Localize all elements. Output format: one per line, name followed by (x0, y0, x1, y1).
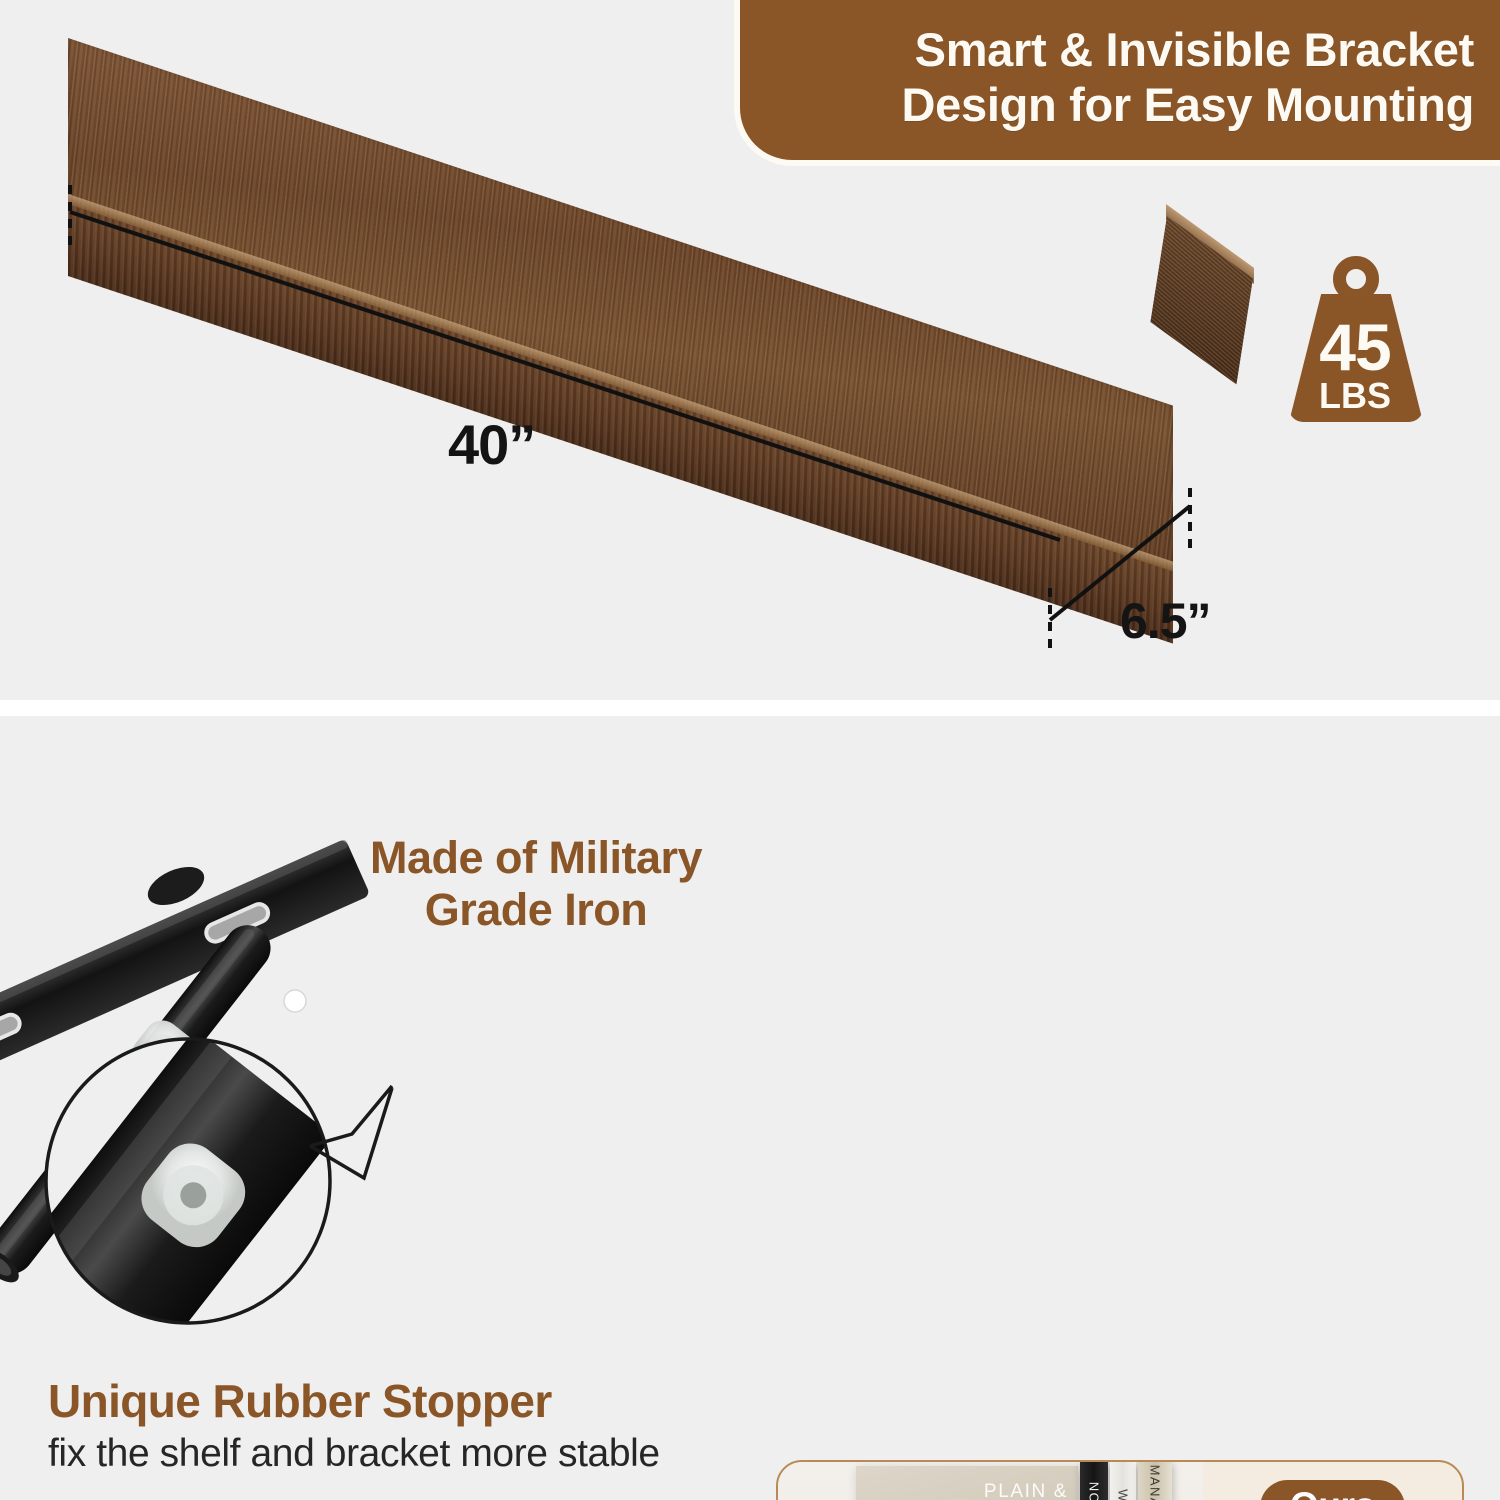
iron-title-line2: Grade Iron (425, 884, 648, 935)
ours-spine-2: WALLPAPER CITY GUIDE (1110, 1462, 1136, 1500)
ours-book-title-line1: PLAIN & (984, 1481, 1068, 1500)
weight-unit: LBS (1285, 378, 1425, 414)
depth-dimension-label: 6.5” (1120, 592, 1211, 650)
weight-value: 45 (1285, 314, 1425, 380)
ours-spine-3-text: MANAGEMENT PLAIN & SIMPLE (1148, 1465, 1163, 1500)
ours-spine-2-text: WALLPAPER CITY GUIDE (1116, 1489, 1131, 1500)
ours-spine-1-text: NO REST FOR THE WEARY (1087, 1482, 1102, 1500)
header-banner: Smart & Invisible Bracket Design for Eas… (740, 0, 1500, 160)
rubber-stopper-subtitle: fix the shelf and bracket more stable (48, 1432, 660, 1476)
ours-book-title: PLAIN & SIMPLE (984, 1480, 1068, 1500)
ours-scene: PLAIN & SIMPLE KIM BRENNEMAN NO REST FOR… (778, 1462, 1203, 1500)
weight-capacity-badge: 45 LBS (1285, 256, 1425, 426)
iron-callout-dot (284, 990, 306, 1012)
ours-text-block: Ours DEEPER & THICKER Create more storag… (1203, 1462, 1462, 1500)
bracket-svg (0, 726, 680, 1406)
length-dimension-label: 40” (448, 412, 535, 477)
product-dimensions-section: 40” 6.5” 45 LBS Smart & Invisible Bracke… (0, 0, 1500, 700)
rubber-stopper-title: Unique Rubber Stopper (48, 1374, 552, 1428)
ours-badge: Ours (1260, 1480, 1405, 1500)
shelf-end-face (1150, 216, 1253, 384)
rubber-stopper-magnifier (0, 1028, 392, 1404)
ours-feature-book: PLAIN & SIMPLE KIM BRENNEMAN (856, 1466, 1078, 1500)
ours-spine-1: NO REST FOR THE WEARY (1080, 1462, 1108, 1500)
military-grade-iron-title: Made of Military Grade Iron (332, 832, 740, 936)
header-title-line1: Smart & Invisible Bracket (915, 22, 1474, 77)
ours-spine-3: MANAGEMENT PLAIN & SIMPLE (1138, 1462, 1172, 1500)
comparison-card-ours: PLAIN & SIMPLE KIM BRENNEMAN NO REST FOR… (776, 1460, 1464, 1500)
header-title-line2: Design for Easy Mounting (902, 77, 1475, 132)
ours-photo: PLAIN & SIMPLE KIM BRENNEMAN NO REST FOR… (778, 1462, 1203, 1500)
iron-title-line1: Made of Military (370, 832, 702, 883)
